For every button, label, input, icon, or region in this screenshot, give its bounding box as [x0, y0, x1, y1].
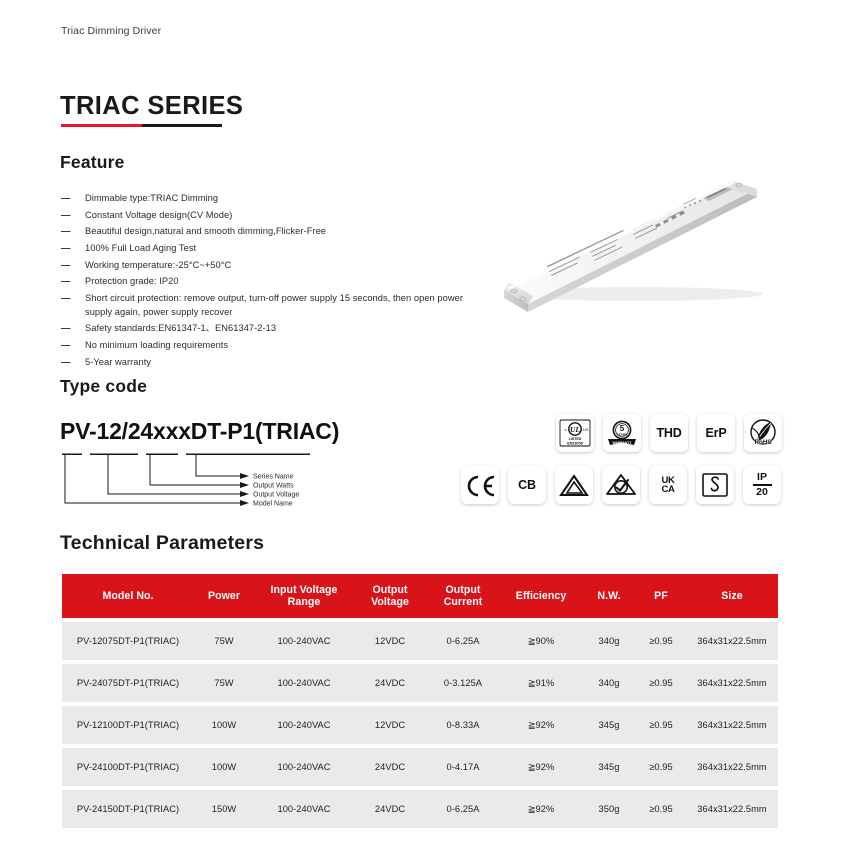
ip-value: 20 [753, 487, 772, 498]
title-underline [61, 124, 222, 127]
cb-badge: CB [508, 466, 546, 504]
section-heading-feature: Feature [60, 152, 125, 173]
svg-text:UL: UL [570, 425, 580, 434]
list-item: — Dimmable type:TRIAC Dimming [61, 192, 481, 206]
cell-output-voltage: 12VDC [354, 636, 426, 646]
callout-label: Output Voltage [253, 492, 299, 499]
callout-label: Series Name [253, 474, 294, 481]
cell-power: 100W [194, 762, 254, 772]
svg-text:YEARS: YEARS [617, 433, 628, 437]
bullet-dash-icon: — [61, 259, 85, 273]
table-row: PV-24100DT-P1(TRIAC) 100W 100-240VAC 24V… [62, 748, 778, 786]
ce-badge [461, 466, 499, 504]
list-item: — Short circuit protection: remove outpu… [61, 292, 481, 319]
cell-output-current: 0-3.125A [426, 678, 500, 688]
list-item: — 5-Year warranty [61, 356, 481, 370]
ip-rating: IP 20 [753, 472, 772, 497]
ip20-badge: IP 20 [743, 466, 781, 504]
bullet-dash-icon: — [61, 242, 85, 256]
list-item: — 100% Full Load Aging Test [61, 242, 481, 256]
cell-pf: ≥0.95 [636, 762, 686, 772]
cell-nw: 345g [582, 762, 636, 772]
cell-output-current: 0-8.33A [426, 720, 500, 730]
certification-row-2: CB UK CA [461, 466, 781, 504]
erp-label: ErP [706, 426, 727, 440]
bullet-dash-icon: — [61, 192, 85, 206]
bullet-dash-icon: — [61, 209, 85, 223]
column-header-input-voltage-range: Input VoltageRange [254, 584, 354, 609]
cell-power: 100W [194, 720, 254, 730]
section-heading-technical-parameters: Technical Parameters [60, 532, 264, 555]
ukca-line-2: CA [661, 485, 674, 494]
type-code-value: PV-12/24xxxDT-P1(TRIAC) [60, 418, 339, 445]
cell-model: PV-12100DT-P1(TRIAC) [62, 720, 194, 730]
cell-model: PV-12075DT-P1(TRIAC) [62, 636, 194, 646]
svg-text:E531059: E531059 [567, 441, 583, 446]
cell-power: 150W [194, 804, 254, 814]
list-item: — Constant Voltage design(CV Mode) [61, 209, 481, 223]
cell-efficiency: ≧92% [500, 804, 582, 815]
bullet-dash-icon: — [61, 356, 85, 370]
cell-pf: ≥0.95 [636, 636, 686, 646]
type-code-callout-diagram: Series Name Output Watts Output Voltage … [60, 452, 380, 514]
table-row: PV-24075DT-P1(TRIAC) 75W 100-240VAC 24VD… [62, 664, 778, 702]
cell-input-voltage: 100-240VAC [254, 720, 354, 730]
cell-pf: ≥0.95 [636, 678, 686, 688]
feature-text: Working temperature:-25°C~+50°C [85, 259, 481, 273]
cell-output-current: 0-6.25A [426, 636, 500, 646]
column-header-model-no: Model No. [62, 590, 194, 602]
svg-text:US: US [583, 427, 589, 432]
feature-text: Safety standards:EN61347-1、EN61347-2-13 [85, 322, 481, 336]
callout-label: Output Watts [253, 483, 294, 490]
table-row: PV-12100DT-P1(TRIAC) 100W 100-240VAC 12V… [62, 706, 778, 744]
cb-label: CB [518, 478, 536, 492]
five-year-warranty-badge: 5 YEARS WARRANTY [603, 414, 641, 452]
cell-size: 364x31x22.5mm [686, 636, 778, 646]
title-underline-red [61, 124, 142, 127]
cell-input-voltage: 100-240VAC [254, 636, 354, 646]
bullet-dash-icon: — [61, 225, 85, 239]
ukca-label: UK CA [661, 476, 674, 494]
cell-nw: 350g [582, 804, 636, 814]
svg-text:WARRANTY: WARRANTY [612, 441, 632, 445]
column-header-output-voltage: OutputVoltage [354, 584, 426, 609]
column-header-efficiency: Efficiency [500, 590, 582, 602]
technical-parameters-table: Model No. Power Input VoltageRange Outpu… [62, 574, 778, 828]
svg-text:RoHS: RoHS [755, 439, 772, 446]
list-item: — Working temperature:-25°C~+50°C [61, 259, 481, 273]
title-underline-black [142, 124, 223, 127]
linear-led-driver-photo [487, 170, 777, 325]
cell-size: 364x31x22.5mm [686, 678, 778, 688]
feature-text: No minimum loading requirements [85, 339, 481, 353]
cell-nw: 340g [582, 678, 636, 688]
certification-row-1: UL c US LISTED E531059 5 YEARS WARRANTY … [556, 414, 782, 452]
cell-output-voltage: 24VDC [354, 678, 426, 688]
feature-text: Dimmable type:TRIAC Dimming [85, 192, 481, 206]
triangle-class2-badge [555, 466, 593, 504]
ip-label: IP [753, 472, 772, 483]
cell-efficiency: ≧92% [500, 762, 582, 773]
page-title: TRIAC SERIES [60, 92, 243, 121]
thd-label: THD [656, 426, 681, 440]
breadcrumb: Triac Dimming Driver [61, 25, 161, 37]
callout-label: Model Name [253, 501, 293, 508]
feature-list: — Dimmable type:TRIAC Dimming — Constant… [61, 192, 481, 372]
cell-model: PV-24150DT-P1(TRIAC) [62, 804, 194, 814]
cell-power: 75W [194, 678, 254, 688]
cell-output-voltage: 12VDC [354, 720, 426, 730]
cell-output-current: 0-4.17A [426, 762, 500, 772]
cell-input-voltage: 100-240VAC [254, 762, 354, 772]
list-item: — No minimum loading requirements [61, 339, 481, 353]
cell-nw: 340g [582, 636, 636, 646]
cell-output-voltage: 24VDC [354, 804, 426, 814]
ukca-badge: UK CA [649, 466, 687, 504]
column-header-pf: PF [636, 590, 686, 602]
cell-size: 364x31x22.5mm [686, 762, 778, 772]
cell-efficiency: ≧90% [500, 636, 582, 647]
feature-text: 100% Full Load Aging Test [85, 242, 481, 256]
rcm-badge [602, 466, 640, 504]
list-item: — Safety standards:EN61347-1、EN61347-2-1… [61, 322, 481, 336]
cell-efficiency: ≧91% [500, 678, 582, 689]
feature-text: 5-Year warranty [85, 356, 481, 370]
column-header-power: Power [194, 590, 254, 602]
list-item: — Protection grade: IP20 [61, 275, 481, 289]
svg-text:c: c [565, 427, 567, 432]
cell-size: 364x31x22.5mm [686, 804, 778, 814]
list-item: — Beautiful design,natural and smooth di… [61, 225, 481, 239]
cell-power: 75W [194, 636, 254, 646]
cell-input-voltage: 100-240VAC [254, 678, 354, 688]
column-header-size: Size [686, 590, 778, 602]
cell-model: PV-24100DT-P1(TRIAC) [62, 762, 194, 772]
bullet-dash-icon: — [61, 275, 85, 289]
erp-badge: ErP [697, 414, 735, 452]
column-header-output-current: OutputCurrent [426, 584, 500, 609]
table-row: PV-12075DT-P1(TRIAC) 75W 100-240VAC 12VD… [62, 622, 778, 660]
cell-model: PV-24075DT-P1(TRIAC) [62, 678, 194, 688]
datasheet-page: Triac Dimming Driver TRIAC SERIES Featur… [0, 0, 847, 847]
section-heading-type-code: Type code [60, 376, 147, 397]
cell-pf: ≥0.95 [636, 804, 686, 814]
feature-text: Constant Voltage design(CV Mode) [85, 209, 481, 223]
ul-listed-badge: UL c US LISTED E531059 [556, 414, 594, 452]
thd-badge: THD [650, 414, 688, 452]
bullet-dash-icon: — [61, 292, 85, 306]
cell-output-voltage: 24VDC [354, 762, 426, 772]
bullet-dash-icon: — [61, 322, 85, 336]
column-header-nw: N.W. [582, 590, 636, 602]
selv-badge [696, 466, 734, 504]
cell-efficiency: ≧92% [500, 720, 582, 731]
cell-input-voltage: 100-240VAC [254, 804, 354, 814]
cell-pf: ≥0.95 [636, 720, 686, 730]
cell-output-current: 0-6.25A [426, 804, 500, 814]
table-row: PV-24150DT-P1(TRIAC) 150W 100-240VAC 24V… [62, 790, 778, 828]
feature-text: Protection grade: IP20 [85, 275, 481, 289]
feature-text: Short circuit protection: remove output,… [85, 292, 481, 319]
cell-nw: 345g [582, 720, 636, 730]
rohs-badge: RoHS [744, 414, 782, 452]
cell-size: 364x31x22.5mm [686, 720, 778, 730]
bullet-dash-icon: — [61, 339, 85, 353]
table-header-row: Model No. Power Input VoltageRange Outpu… [62, 574, 778, 618]
feature-text: Beautiful design,natural and smooth dimm… [85, 225, 481, 239]
